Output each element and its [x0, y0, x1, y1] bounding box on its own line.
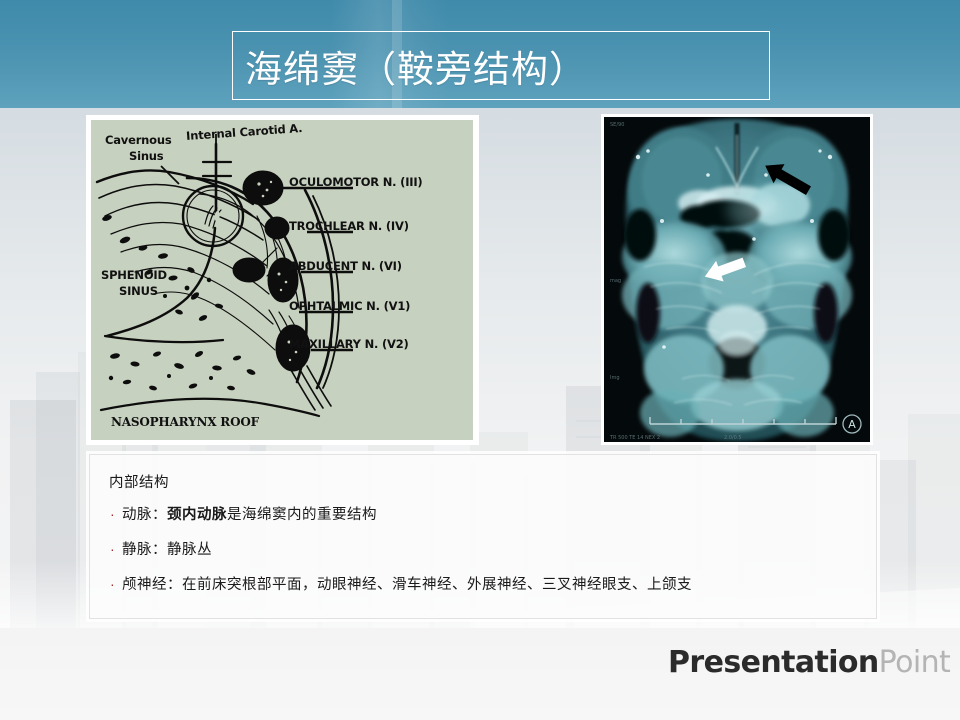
label-oculomotor-nerve: OCULOMOTOR N. (III): [289, 175, 423, 189]
bullet-bold: 颈内动脉: [167, 506, 227, 523]
svg-text:Img: Img: [610, 375, 620, 381]
title-box: 海绵窦（鞍旁结构）: [232, 31, 770, 100]
bullet-prefix: 静脉：: [122, 542, 167, 558]
label-cavernous-sinus-line1: Cavernous: [105, 133, 172, 147]
bullet-prefix: 动脉：: [122, 507, 167, 523]
bullet-text-vein: 静脉：静脉丛: [122, 538, 212, 559]
bullet-marker: ·: [106, 577, 122, 591]
slide-header-band: 海绵窦（鞍旁结构）: [0, 0, 960, 108]
nerve-vi-dot: [233, 258, 265, 282]
internal-structure-textbox: 内部结构 · 动脉：颈内动脉是海绵窦内的重要结构 · 静脉：静脉丛 · 颅神经：…: [89, 454, 877, 619]
cavernous-sinus-diagram: Cavernous Sinus Internal Carotid A. OCUL…: [91, 120, 473, 440]
label-ophthalmic-nerve: OPHTALMIC N. (V1): [289, 299, 410, 313]
page-title: 海绵窦（鞍旁结构）: [233, 39, 587, 93]
slide-canvas: 海绵窦（鞍旁结构）: [0, 0, 960, 720]
presentationpoint-logo: PresentationPoint: [668, 645, 950, 680]
label-trochlear-nerve: TROCHLEAR N. (IV): [289, 219, 409, 233]
mri-artwork: A SE/90 mag Img TR 500 TE 14 NEX 2 2.0/0…: [604, 117, 870, 442]
nerve-iv-dot: [265, 217, 289, 239]
label-sphenoid-sinus-line1: SPHENOID: [101, 268, 167, 282]
mri-image-frame: A SE/90 mag Img TR 500 TE 14 NEX 2 2.0/0…: [601, 114, 873, 445]
bullet-marker: ·: [106, 507, 122, 521]
textbox-heading: 内部结构: [109, 471, 860, 492]
bullet-row-vein: · 静脉：静脉丛: [106, 538, 860, 559]
label-nasopharynx-roof: NASOPHARYNX ROOF: [111, 415, 259, 429]
label-abducent-nerve: ABDUCENT N. (VI): [289, 259, 402, 273]
bullet-suffix: 在前床突根部平面，动眼神经、滑车神经、外展神经、三叉神经眼支、上颌支: [182, 577, 692, 593]
label-maxillary-nerve: MAXILLARY N. (V2): [289, 337, 409, 351]
bullet-text-artery: 动脉：颈内动脉是海绵窦内的重要结构: [122, 503, 377, 524]
svg-text:2.0/0.5: 2.0/0.5: [724, 435, 742, 441]
label-sphenoid-sinus-line2: SINUS: [119, 284, 158, 298]
bullet-suffix: 是海绵窦内的重要结构: [227, 507, 377, 523]
svg-text:SE/90: SE/90: [610, 122, 624, 128]
svg-text:mag: mag: [610, 278, 621, 284]
label-cavernous-sinus-line2: Sinus: [129, 149, 163, 163]
leader-cavernous-sinus: [161, 166, 179, 184]
bullet-row-cranial-nerves: · 颅神经：在前床突根部平面，动眼神经、滑车神经、外展神经、三叉神经眼支、上颌支: [106, 573, 860, 594]
bullet-prefix: 颅神经：: [122, 577, 182, 593]
bullet-text-cranial-nerves: 颅神经：在前床突根部平面，动眼神经、滑车神经、外展神经、三叉神经眼支、上颌支: [122, 573, 692, 594]
diagram-image-frame: Cavernous Sinus Internal Carotid A. OCUL…: [86, 115, 479, 445]
svg-text:TR 500 TE 14 NEX 2: TR 500 TE 14 NEX 2: [609, 435, 660, 441]
bullet-marker: ·: [106, 542, 122, 556]
nerve-iii-dot: [243, 171, 283, 205]
logo-light: Point: [879, 645, 951, 680]
coronal-mri-image: A SE/90 mag Img TR 500 TE 14 NEX 2 2.0/0…: [604, 117, 870, 442]
logo-strong: Presentation: [668, 645, 879, 680]
svg-text:A: A: [848, 418, 856, 431]
bullet-suffix: 静脉丛: [167, 542, 212, 558]
bullet-row-artery: · 动脉：颈内动脉是海绵窦内的重要结构: [106, 503, 860, 524]
